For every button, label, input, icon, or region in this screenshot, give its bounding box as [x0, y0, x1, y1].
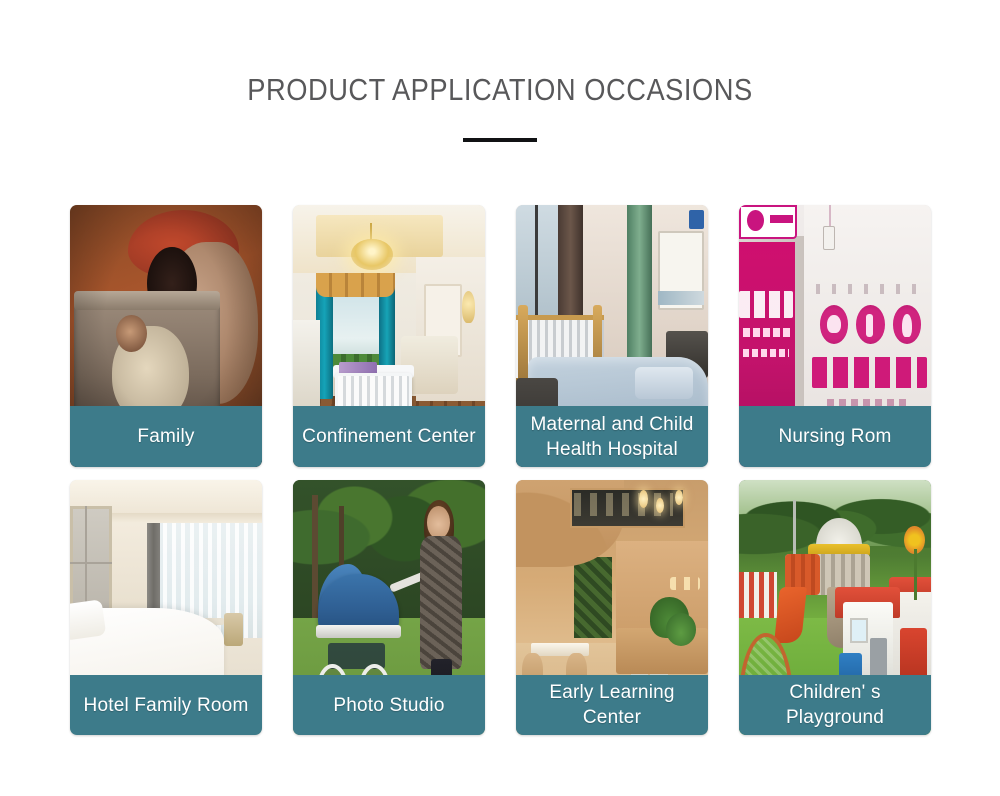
- caption-text: Hotel Family Room: [84, 693, 249, 718]
- caption-family: Family: [70, 406, 262, 467]
- occasion-card-maternal-and-child-health-hospital[interactable]: Maternal and Child Health Hospital: [516, 205, 708, 467]
- product-application-occasions-page: PRODUCT APPLICATION OCCASIONS Family: [0, 0, 1000, 796]
- caption-early-learning-center: Early Learning Center: [516, 675, 708, 735]
- occasion-card-early-learning-center[interactable]: Early Learning Center: [516, 480, 708, 735]
- caption-text: Photo Studio: [333, 693, 444, 718]
- occasion-card-hotel-family-room[interactable]: Hotel Family Room: [70, 480, 262, 735]
- occasion-card-photo-studio[interactable]: Photo Studio: [293, 480, 485, 735]
- caption-hotel-family-room: Hotel Family Room: [70, 675, 262, 735]
- occasion-card-family[interactable]: Family: [70, 205, 262, 467]
- caption-maternal-and-child-health-hospital: Maternal and Child Health Hospital: [516, 406, 708, 467]
- title-divider: [463, 138, 537, 142]
- caption-text: Maternal and Child Health Hospital: [522, 412, 702, 462]
- caption-text: Nursing Rom: [778, 424, 891, 449]
- occasion-card-nursing-rom[interactable]: Nursing Rom: [739, 205, 931, 467]
- occasion-card-childrens-playground[interactable]: Children' s Playground: [739, 480, 931, 735]
- occasion-card-grid: Family Confinement C: [70, 205, 936, 735]
- caption-nursing-rom: Nursing Rom: [739, 406, 931, 467]
- page-title: PRODUCT APPLICATION OCCASIONS: [60, 70, 940, 110]
- section-header: PRODUCT APPLICATION OCCASIONS: [0, 70, 1000, 142]
- caption-photo-studio: Photo Studio: [293, 675, 485, 735]
- occasion-card-confinement-center[interactable]: Confinement Center: [293, 205, 485, 467]
- caption-text: Early Learning Center: [522, 680, 702, 730]
- caption-text: Family: [137, 424, 194, 449]
- caption-childrens-playground: Children' s Playground: [739, 675, 931, 735]
- caption-text: Children' s Playground: [745, 680, 925, 730]
- caption-text: Confinement Center: [302, 424, 476, 449]
- caption-confinement-center: Confinement Center: [293, 406, 485, 467]
